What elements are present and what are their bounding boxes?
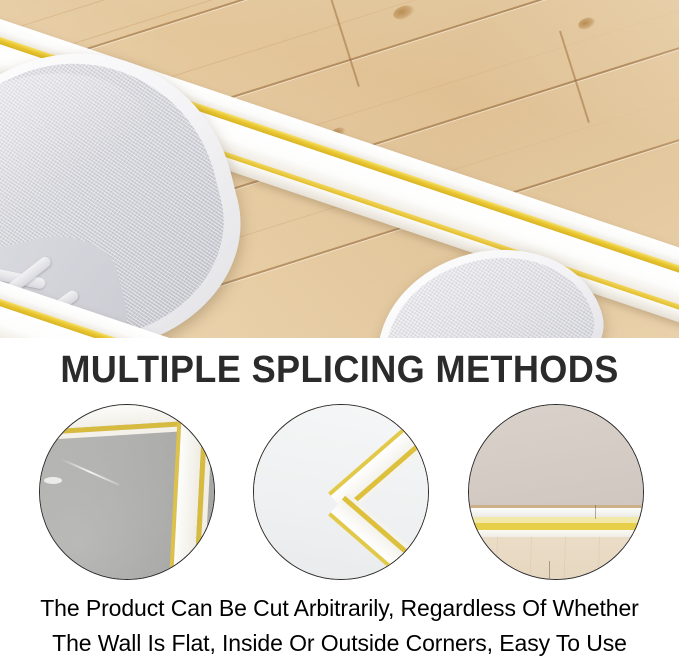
wood-floor — [468, 537, 644, 580]
caption-line-1: The Product Can Be Cut Arbitrarily, Rega… — [0, 591, 679, 626]
circle-mitered-chevron-corner — [253, 404, 429, 580]
circle-ninety-degree-corner — [39, 404, 215, 580]
headline: MULTIPLE SPLICING METHODS — [17, 349, 662, 391]
circle-straight-butt-splice — [468, 404, 644, 580]
splicing-method-gallery — [0, 404, 679, 584]
caption-line-2: The Wall Is Flat, Inside Or Outside Corn… — [0, 626, 679, 661]
strip-gold-trim — [468, 523, 644, 530]
strip-white-face — [468, 508, 644, 517]
hero-photo — [0, 0, 679, 338]
strip-white-edge — [468, 530, 644, 537]
product-feature-page: MULTIPLE SPLICING METHODS — [0, 0, 679, 663]
splice-seam — [595, 505, 596, 519]
floor-plank-seam — [549, 561, 550, 580]
beige-wall — [468, 404, 644, 507]
caption: The Product Can Be Cut Arbitrarily, Rega… — [0, 591, 679, 661]
moulding-straight-run — [468, 505, 644, 537]
wall-crack — [44, 477, 62, 484]
